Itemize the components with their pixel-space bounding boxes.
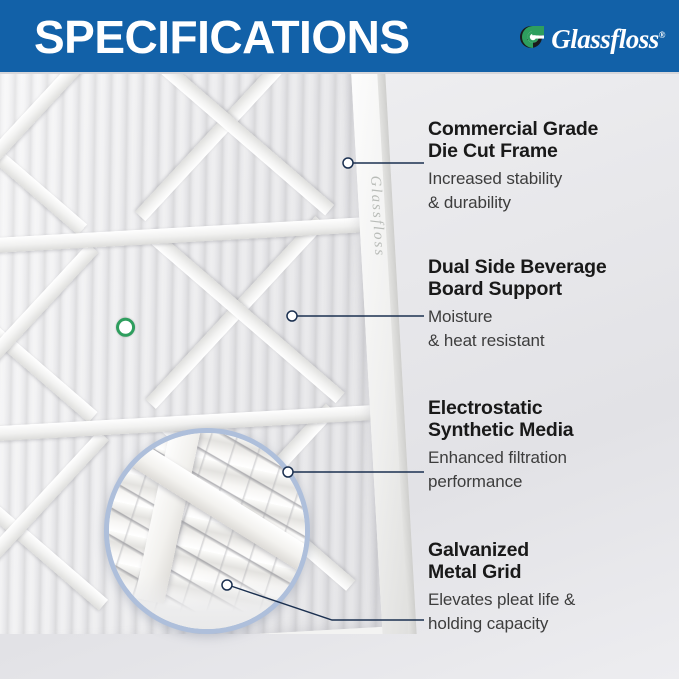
magnifier-fade: [109, 575, 305, 629]
callout-dual-side-beverage-board-support: Dual Side Beverage Board Support Moistur…: [428, 256, 676, 353]
callout-title-line: Electrostatic: [428, 397, 676, 419]
callout-title: Dual Side Beverage Board Support: [428, 256, 676, 300]
callout-body: Moisture & heat resistant: [428, 305, 676, 353]
brand-wordmark-text: Glassfloss: [551, 24, 659, 54]
header-bar: SPECIFICATIONS Glassfloss®: [0, 0, 679, 72]
callout-galvanized-metal-grid: Galvanized Metal Grid Elevates pleat lif…: [428, 539, 676, 636]
callout-title-line: Die Cut Frame: [428, 140, 676, 162]
callout-title-line: Synthetic Media: [428, 419, 676, 441]
media-closeup-magnifier: [104, 428, 310, 634]
callout-electrostatic-synthetic-media: Electrostatic Synthetic Media Enhanced f…: [428, 397, 676, 494]
callout-title-line: Metal Grid: [428, 561, 676, 583]
callout-body: Enhanced filtration performance: [428, 446, 676, 494]
callout-body-line: & durability: [428, 191, 676, 215]
callout-body: Increased stability & durability: [428, 167, 676, 215]
callout-body-line: & heat resistant: [428, 329, 676, 353]
brand-wordmark: Glassfloss®: [551, 20, 665, 54]
callout-title: Commercial Grade Die Cut Frame: [428, 118, 676, 162]
callout-title-line: Commercial Grade: [428, 118, 676, 140]
callout-title-line: Galvanized: [428, 539, 676, 561]
callout-title-line: Dual Side Beverage: [428, 256, 676, 278]
callout-title: Electrostatic Synthetic Media: [428, 397, 676, 441]
callout-title-line: Board Support: [428, 278, 676, 300]
callout-body: Elevates pleat life & holding capacity: [428, 588, 676, 636]
callout-body-line: Increased stability: [428, 167, 676, 191]
callout-title: Galvanized Metal Grid: [428, 539, 676, 583]
specifications-infographic: SPECIFICATIONS Glassfloss®: [0, 0, 679, 679]
brand-logo: Glassfloss®: [518, 20, 665, 54]
callout-body-line: Elevates pleat life &: [428, 588, 676, 612]
callout-body-line: performance: [428, 470, 676, 494]
page-title: SPECIFICATIONS: [34, 12, 410, 62]
glassfloss-g-mark-icon: [518, 22, 548, 52]
brand-trademark-symbol: ®: [659, 30, 665, 40]
frame-brand-text: Glassfloss: [361, 175, 388, 258]
callout-body-line: Moisture: [428, 305, 676, 329]
callout-commercial-grade-die-cut-frame: Commercial Grade Die Cut Frame Increased…: [428, 118, 676, 215]
callout-body-line: holding capacity: [428, 612, 676, 636]
callout-body-line: Enhanced filtration: [428, 446, 676, 470]
